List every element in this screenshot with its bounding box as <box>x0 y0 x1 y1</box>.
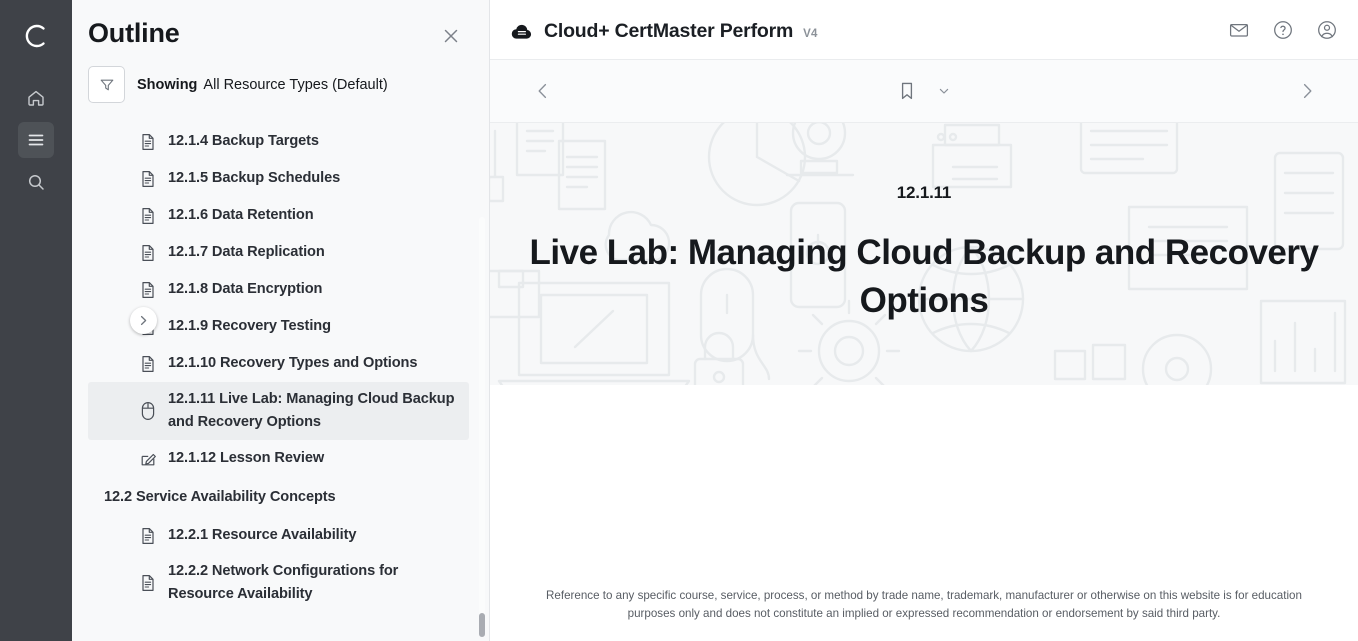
left-nav-rail <box>0 0 72 641</box>
document-icon <box>140 170 156 188</box>
outline-item-label: 12.1.3 Backup Locations <box>168 113 336 116</box>
outline-item-label: 12.2 Service Availability Concepts <box>104 486 336 509</box>
outline-list-item[interactable]: 12.1.8 Data Encryption <box>88 271 469 308</box>
outline-section-heading[interactable]: 12.2 Service Availability Concepts <box>88 477 469 517</box>
lesson-title: Live Lab: Managing Cloud Backup and Reco… <box>529 229 1319 325</box>
close-icon[interactable] <box>437 22 465 50</box>
rail-items <box>18 80 54 200</box>
outline-list-item[interactable]: 12.1.3 Backup Locations <box>88 113 469 123</box>
lesson-nav-bar <box>490 60 1358 123</box>
document-icon <box>140 113 156 114</box>
c-logo-icon <box>14 14 58 58</box>
chevron-right-icon[interactable] <box>1294 78 1320 104</box>
filter-summary: ShowingAll Resource Types (Default) <box>137 77 388 93</box>
rail-item-outline[interactable] <box>18 122 54 158</box>
rail-item-search[interactable] <box>18 164 54 200</box>
mouse-icon <box>140 402 156 420</box>
top-bar-actions <box>1226 17 1340 43</box>
outline-list-item[interactable]: 12.2.2 Network Configurations for Resour… <box>88 554 469 612</box>
app-root: Outline ShowingAll Resource Types (Defau… <box>0 0 1358 641</box>
outline-item-label: 12.1.12 Lesson Review <box>168 447 324 470</box>
document-icon <box>140 574 156 592</box>
resource-filter-row: ShowingAll Resource Types (Default) <box>72 50 489 113</box>
outline-item-label: 12.2.2 Network Configurations for Resour… <box>168 560 461 606</box>
question-circle-icon[interactable] <box>1270 17 1296 43</box>
outline-item-label: 12.1.9 Recovery Testing <box>168 315 331 338</box>
document-icon <box>140 527 156 545</box>
outline-list-item[interactable]: 12.1.12 Lesson Review <box>88 440 469 477</box>
outline-list-item[interactable]: 12.1.6 Data Retention <box>88 197 469 234</box>
version-badge: V4 <box>803 28 817 40</box>
outline-scrollbar-track[interactable] <box>479 217 485 637</box>
pencil-square-icon <box>140 450 156 468</box>
outline-item-label: 12.1.7 Data Replication <box>168 241 325 264</box>
document-icon <box>140 207 156 225</box>
bookmark-controls <box>895 78 953 104</box>
outline-list-item[interactable]: 12.1.4 Backup Targets <box>88 123 469 160</box>
envelope-icon[interactable] <box>1226 17 1252 43</box>
brand: Cloud+ CertMaster Perform V4 <box>510 16 818 43</box>
outline-list[interactable]: 12.1.3 Backup Locations12.1.4 Backup Tar… <box>72 113 489 641</box>
outline-item-label: 12.2.1 Resource Availability <box>168 524 356 547</box>
outline-list-item[interactable]: 12.2.1 Resource Availability <box>88 517 469 554</box>
document-icon <box>140 355 156 373</box>
user-circle-icon[interactable] <box>1314 17 1340 43</box>
lesson-banner-content: 12.1.11 Live Lab: Managing Cloud Backup … <box>490 183 1358 325</box>
outline-scrollbar-thumb[interactable] <box>479 613 485 637</box>
filter-funnel-icon[interactable] <box>88 66 125 103</box>
page-title: Outline <box>88 16 180 50</box>
cloud-icon <box>510 20 534 44</box>
outline-list-item[interactable]: 12.1.10 Recovery Types and Options <box>88 345 469 382</box>
chevron-left-icon[interactable] <box>530 78 556 104</box>
brand-title: Cloud+ CertMaster Perform <box>544 20 793 43</box>
chevron-down-icon[interactable] <box>935 82 953 100</box>
outline-item-label: 12.1.5 Backup Schedules <box>168 167 340 190</box>
panel-collapse-toggle[interactable] <box>130 307 157 334</box>
document-icon <box>140 244 156 262</box>
outline-list-item[interactable]: 12.1.7 Data Replication <box>88 234 469 271</box>
lesson-content-body: Reference to any specific course, servic… <box>490 385 1358 641</box>
disclaimer-text: Reference to any specific course, servic… <box>490 587 1358 623</box>
outline-panel: Outline ShowingAll Resource Types (Defau… <box>72 0 490 641</box>
outline-item-label: 12.1.8 Data Encryption <box>168 278 322 301</box>
outline-item-label: 12.1.6 Data Retention <box>168 204 314 227</box>
filter-label: Showing <box>137 77 197 93</box>
lesson-banner: 12.1.11 Live Lab: Managing Cloud Backup … <box>490 123 1358 385</box>
lesson-number: 12.1.11 <box>520 183 1328 203</box>
outline-item-label: 12.1.11 Live Lab: Managing Cloud Backup … <box>168 388 461 434</box>
outline-list-item[interactable]: 12.1.5 Backup Schedules <box>88 160 469 197</box>
bookmark-icon[interactable] <box>895 78 919 104</box>
filter-value: All Resource Types (Default) <box>203 77 387 93</box>
main-region: Cloud+ CertMaster Perform V4 <box>490 0 1358 641</box>
outline-list-item[interactable]: 12.1.11 Live Lab: Managing Cloud Backup … <box>88 382 469 440</box>
document-icon <box>140 281 156 299</box>
document-icon <box>140 133 156 151</box>
outline-item-label: 12.1.4 Backup Targets <box>168 130 319 153</box>
outline-header: Outline <box>72 0 489 50</box>
rail-item-home[interactable] <box>18 80 54 116</box>
top-bar: Cloud+ CertMaster Perform V4 <box>490 0 1358 60</box>
outline-item-label: 12.1.10 Recovery Types and Options <box>168 352 417 375</box>
